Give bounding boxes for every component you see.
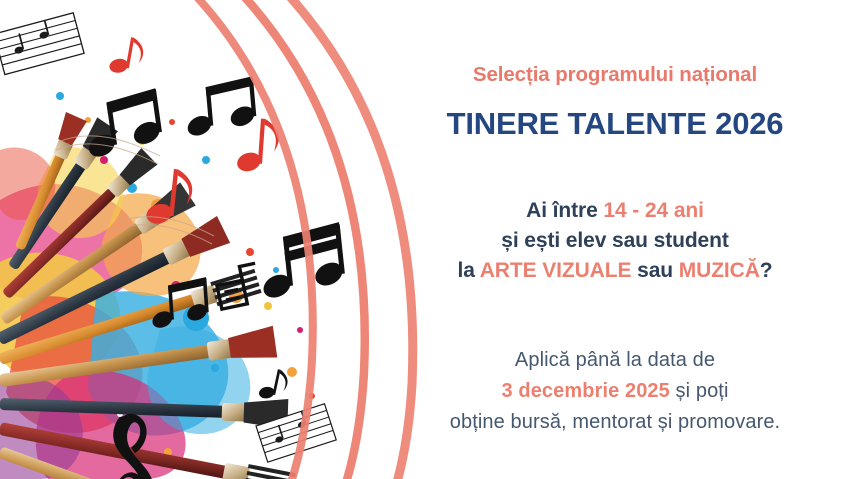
domain-visual-arts: ARTE VIZUALE xyxy=(480,259,632,282)
program-eyebrow: Selecția programului național xyxy=(380,62,850,88)
poster-canvas: Selecția programului național TINERE TAL… xyxy=(0,0,850,479)
deadline-line-2: 3 decembrie 2025 și poți xyxy=(380,376,850,407)
deadline-suffix: și poți xyxy=(670,380,729,402)
domain-music: MUZICĂ xyxy=(679,259,760,282)
heading-block: Selecția programului național TINERE TAL… xyxy=(380,62,850,144)
question-mark: ? xyxy=(760,259,773,282)
eligibility-line-2: și ești elev sau student xyxy=(380,226,850,256)
eligibility-prefix: Ai între xyxy=(526,199,603,222)
deadline-block: Aplică până la data de 3 decembrie 2025 … xyxy=(380,345,850,438)
artwork-illustration xyxy=(0,0,420,479)
page-title: TINERE TALENTE 2026 xyxy=(380,104,850,144)
eligibility-block: Ai între 14 - 24 ani și ești elev sau st… xyxy=(380,196,850,285)
eligibility-line-1: Ai între 14 - 24 ani xyxy=(380,196,850,226)
domain-conjunction: sau xyxy=(631,259,678,282)
age-range: 14 - 24 ani xyxy=(603,199,703,222)
eligibility-line-3: la ARTE VIZUALE sau MUZICĂ? xyxy=(380,256,850,286)
deadline-date: 3 decembrie 2025 xyxy=(502,380,670,402)
deadline-line-1: Aplică până la data de xyxy=(380,345,850,376)
domain-prefix: la xyxy=(457,259,479,282)
text-column: Selecția programului național TINERE TAL… xyxy=(380,0,850,479)
deadline-line-3: obține bursă, mentorat și promovare. xyxy=(380,407,850,438)
